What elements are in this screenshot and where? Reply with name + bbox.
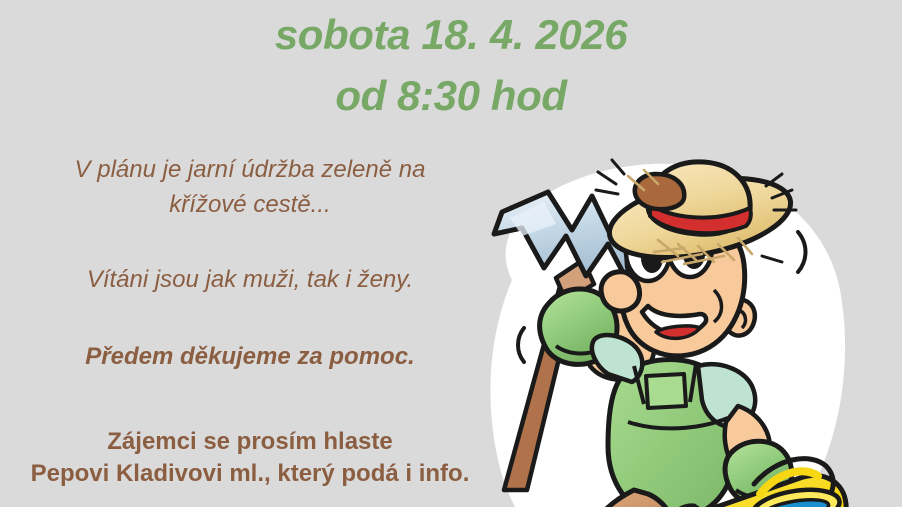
paragraph-contact-line1: Zájemci se prosím hlaste <box>107 428 392 455</box>
paragraph-welcome: Vítáni jsou jak muži, tak i ženy. <box>0 262 500 297</box>
right-glove <box>725 441 792 505</box>
paragraph-plan: V plánu je jarní údržba zeleně na křížov… <box>0 152 500 222</box>
shirt-right <box>698 364 755 427</box>
right-arm <box>725 406 770 474</box>
headline-block: sobota 18. 4. 2026 od 8:30 hod <box>0 0 902 124</box>
eyes <box>626 219 712 281</box>
gardener-illustration <box>452 160 852 507</box>
poster-canvas: sobota 18. 4. 2026 od 8:30 hod V plánu j… <box>0 0 902 507</box>
left-glove <box>518 289 617 364</box>
shirt-left-sleeve <box>592 335 642 382</box>
rake-icon <box>494 192 694 490</box>
paragraph-thanks: Předem děkujeme za pomoc. <box>0 339 500 374</box>
straw-hat-icon <box>596 160 806 272</box>
overalls-body <box>608 360 736 507</box>
paragraph-plan-line1: V plánu je jarní údržba zeleně na <box>75 156 426 183</box>
paragraph-contact-line2: Pepovi Kladivovi ml., který podá i info. <box>31 460 470 487</box>
watering-can-icon <box>624 459 846 507</box>
paragraph-plan-line2: křížové cestě... <box>169 191 330 218</box>
paragraph-contact: Zájemci se prosím hlaste Pepovi Kladivov… <box>0 426 500 490</box>
gardener-head <box>601 213 755 355</box>
white-blob-shape <box>490 164 845 507</box>
overalls-pocket <box>646 374 686 408</box>
left-arm <box>584 311 654 380</box>
can-water <box>762 496 830 507</box>
paragraph-thanks-text: Předem děkujeme za pomoc. <box>85 343 414 370</box>
headline-date: sobota 18. 4. 2026 <box>0 6 902 63</box>
paragraph-welcome-text: Vítáni jsou jak muži, tak i ženy. <box>87 266 413 293</box>
body-copy-block: V plánu je jarní údržba zeleně na křížov… <box>0 152 500 490</box>
left-leg <box>586 490 676 507</box>
headline-time: od 8:30 hod <box>0 67 902 124</box>
